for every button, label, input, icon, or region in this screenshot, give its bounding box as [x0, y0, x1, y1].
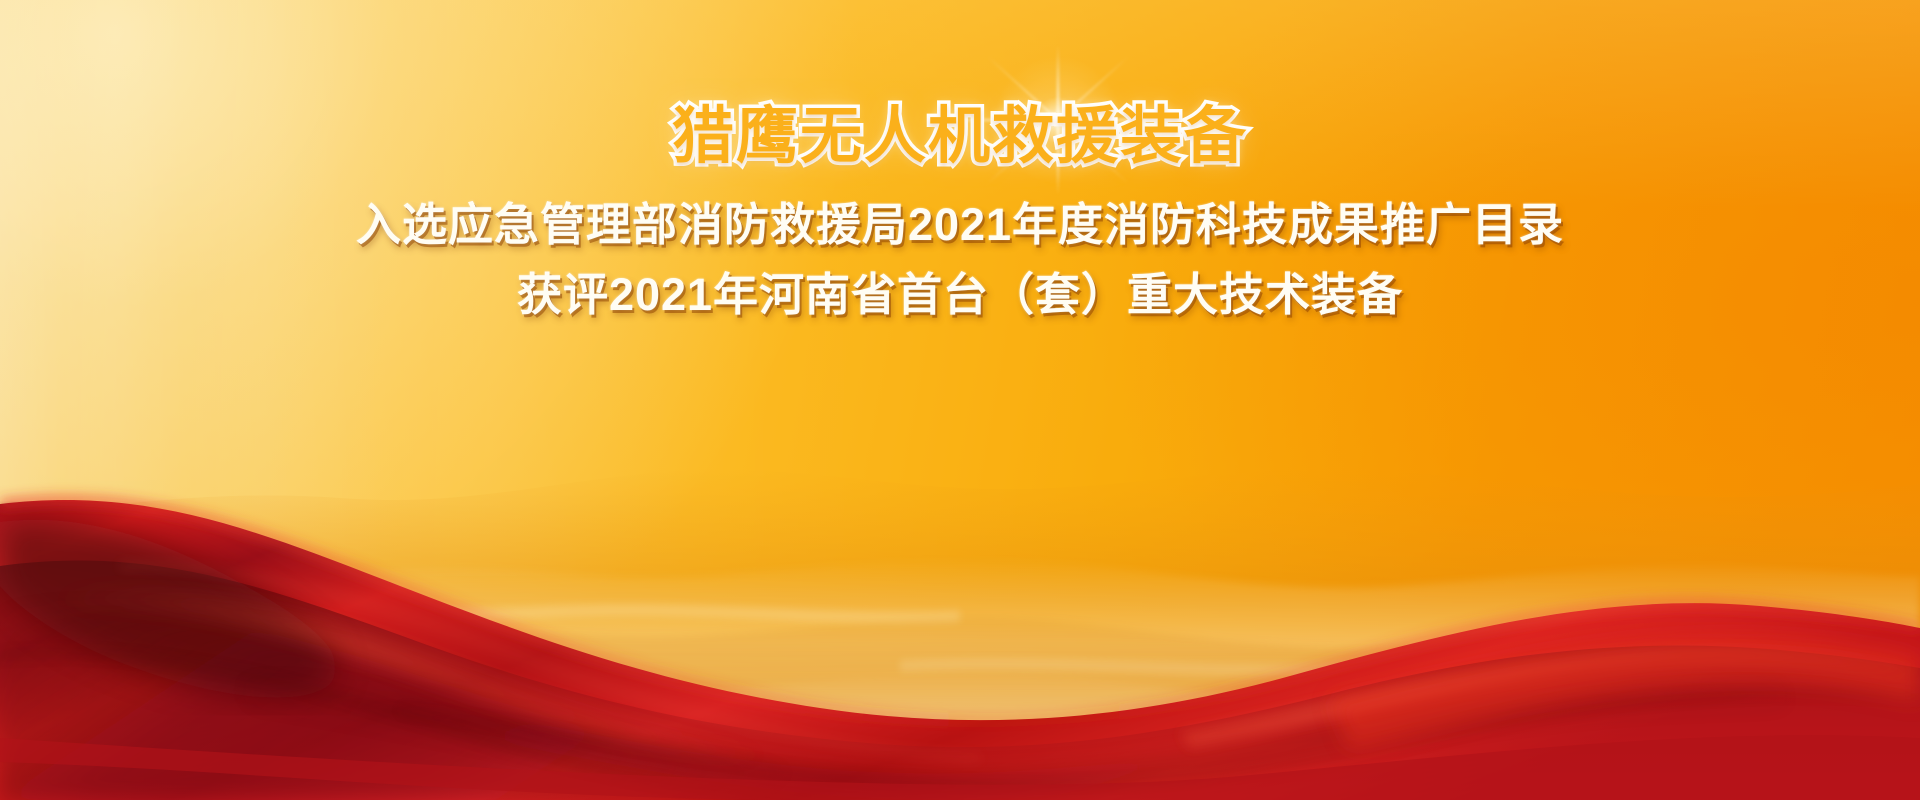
subtitle-line-2: 获评2021年河南省首台（套）重大技术装备: [0, 263, 1920, 327]
headline-block: 猎鹰无人机救援装备 入选应急管理部消防救援局2021年度消防科技成果推广目录 获…: [0, 0, 1920, 327]
subtitle-block: 入选应急管理部消防救援局2021年度消防科技成果推广目录 获评2021年河南省首…: [0, 169, 1920, 327]
mountain-mist-layer: [0, 370, 1920, 800]
page-title: 猎鹰无人机救援装备: [0, 0, 1920, 169]
promo-banner: 猎鹰无人机救援装备 入选应急管理部消防救援局2021年度消防科技成果推广目录 获…: [0, 0, 1920, 800]
subtitle-line-1: 入选应急管理部消防救援局2021年度消防科技成果推广目录: [0, 193, 1920, 257]
